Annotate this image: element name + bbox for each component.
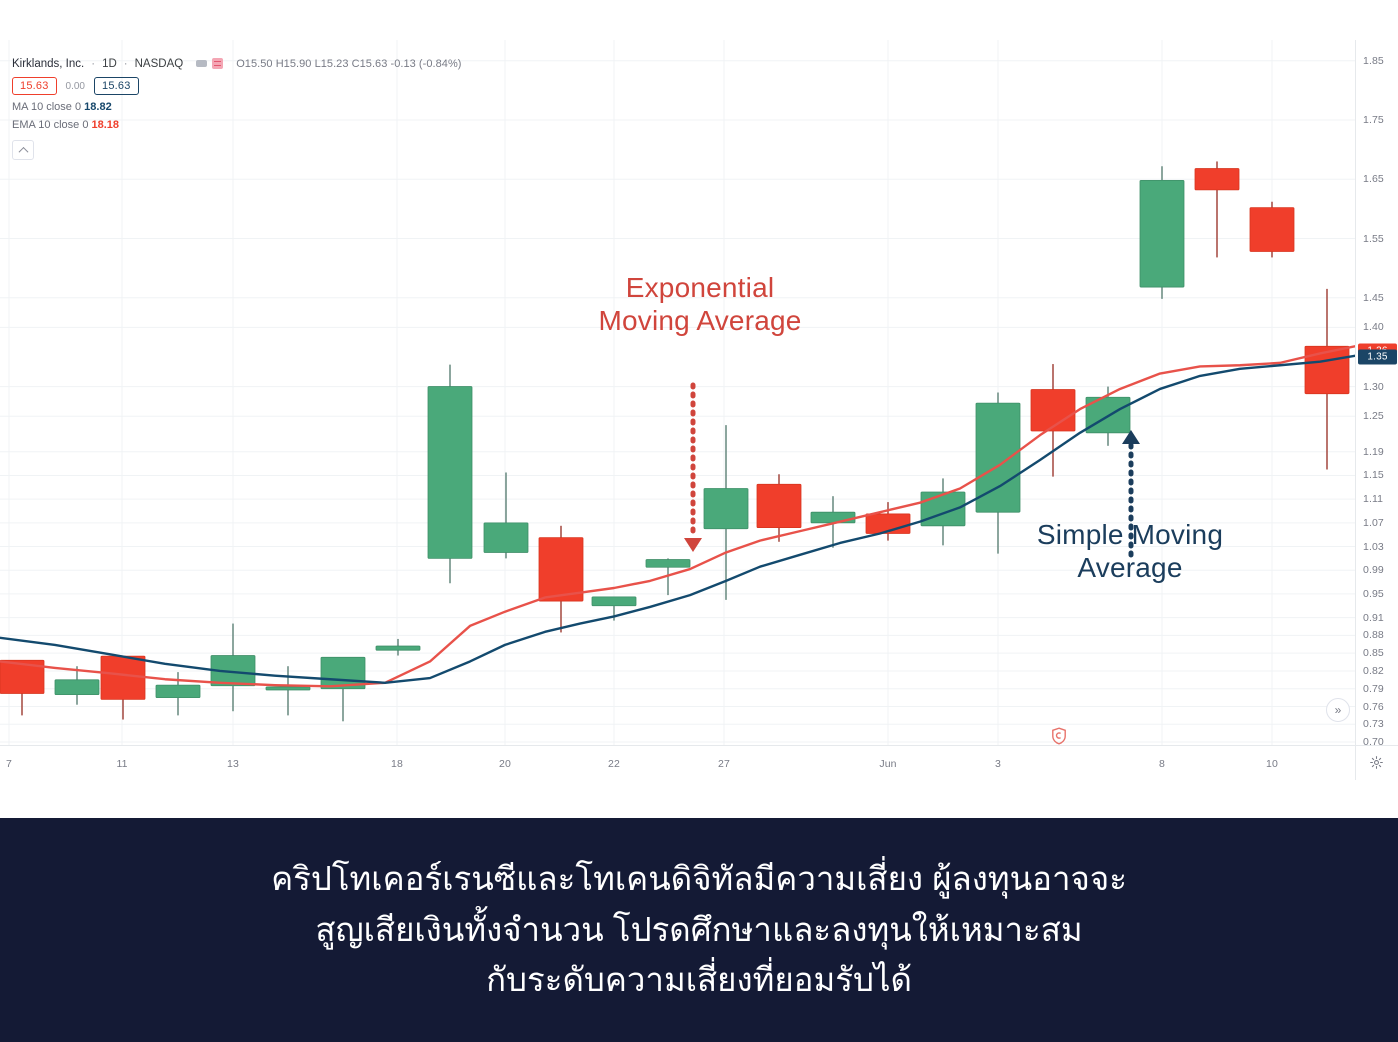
separator-1: ·	[91, 58, 95, 70]
ma-legend-row[interactable]: MA 10 close 0 18.82	[12, 101, 462, 113]
price-chip-low[interactable]: 15.63	[12, 77, 57, 95]
price-tick-label: 0.79	[1363, 683, 1384, 695]
candle-body[interactable]	[484, 523, 528, 553]
price-axis[interactable]: 1.851.751.651.551.451.401.301.251.191.15…	[1355, 40, 1398, 745]
price-tick-label: 0.95	[1363, 588, 1384, 600]
price-chip-last[interactable]: 15.63	[94, 77, 139, 95]
header-icon-group	[196, 58, 223, 69]
candle-body[interactable]	[156, 685, 200, 697]
price-tick-label: 0.91	[1363, 612, 1384, 624]
price-tick-label: 1.75	[1363, 114, 1384, 126]
chart-legend: Kirklands, Inc. · 1D · NASDAQ O15.50 H15…	[12, 58, 462, 131]
time-tick-label: 13	[227, 758, 239, 770]
price-tick-label: 0.76	[1363, 701, 1384, 713]
shield-marker-icon[interactable]	[1051, 727, 1067, 745]
lines-icon[interactable]	[212, 58, 223, 69]
price-tick-label: 1.15	[1363, 469, 1384, 481]
screenshot-root: 1.851.751.651.551.451.401.301.251.191.15…	[0, 0, 1398, 1042]
gear-icon	[1370, 756, 1383, 769]
time-tick-label: 18	[391, 758, 403, 770]
price-tick-label: 0.88	[1363, 629, 1384, 641]
time-tick-label: 27	[718, 758, 730, 770]
candle-body[interactable]	[266, 687, 310, 690]
candle-body[interactable]	[376, 646, 420, 650]
price-tick-label: 1.85	[1363, 55, 1384, 67]
separator-2: ·	[124, 58, 128, 70]
chart-interval[interactable]: 1D	[102, 58, 117, 70]
time-tick-label: 10	[1266, 758, 1278, 770]
price-chip-row: 15.63 0.00 15.63	[12, 77, 462, 95]
collapse-legend-button[interactable]	[12, 140, 34, 160]
price-tick-label: 1.30	[1363, 381, 1384, 393]
candle-body[interactable]	[1305, 346, 1349, 393]
candle-body[interactable]	[1250, 208, 1294, 252]
price-tick-label: 1.55	[1363, 233, 1384, 245]
candle-body[interactable]	[101, 656, 145, 699]
price-tick-label: 0.85	[1363, 647, 1384, 659]
chevron-up-icon	[18, 146, 28, 156]
candle-body[interactable]	[539, 538, 583, 601]
candle-body[interactable]	[646, 560, 690, 568]
candle-body[interactable]	[811, 512, 855, 523]
ema-annotation: Exponential Moving Average	[545, 271, 855, 337]
price-chip-change: 0.00	[66, 81, 85, 92]
ema-legend-value: 18.18	[92, 119, 120, 131]
chevron-double-right-icon: »	[1335, 703, 1342, 717]
price-tick-label: 1.25	[1363, 410, 1384, 422]
time-tick-label: 22	[608, 758, 620, 770]
time-tick-label: 3	[995, 758, 1001, 770]
dash-icon[interactable]	[196, 60, 207, 67]
ema-annotation-line2: Moving Average	[545, 304, 855, 337]
sma-annotation-line1: Simple Moving	[995, 518, 1265, 551]
time-tick-label: 20	[499, 758, 511, 770]
ema-arrow-head	[684, 538, 702, 552]
caption-line-2: สูญเสียเงินทั้งจำนวน โปรดศึกษาและลงทุนให…	[315, 907, 1082, 954]
sma-annotation: Simple Moving Average	[995, 518, 1265, 584]
symbol-name[interactable]: Kirklands, Inc.	[12, 58, 84, 70]
time-tick-label: 11	[116, 758, 127, 770]
candle-body[interactable]	[1195, 169, 1239, 190]
candle-body[interactable]	[592, 597, 636, 606]
price-tick-label: 1.40	[1363, 321, 1384, 333]
price-tick-label: 1.19	[1363, 446, 1384, 458]
chart-settings-button[interactable]	[1366, 752, 1386, 772]
time-axis[interactable]: 7111318202227Jun3810	[0, 745, 1355, 780]
price-tick-label: 0.82	[1363, 665, 1384, 677]
ema-legend-row[interactable]: EMA 10 close 0 18.18	[12, 119, 462, 131]
candle-body[interactable]	[757, 484, 801, 527]
caption-line-1: คริปโทเคอร์เรนซีและโทเคนดิจิทัลมีความเสี…	[271, 856, 1127, 903]
candle-body[interactable]	[428, 387, 472, 559]
time-tick-label: 7	[6, 758, 12, 770]
price-tick-label: 1.65	[1363, 173, 1384, 185]
candlestick-plot[interactable]	[0, 40, 1355, 745]
candle-body[interactable]	[1140, 180, 1184, 287]
exchange-name: NASDAQ	[135, 58, 184, 70]
price-tick-label: 1.11	[1363, 493, 1383, 505]
time-tick-label: Jun	[879, 758, 896, 770]
disclaimer-caption: คริปโทเคอร์เรนซีและโทเคนดิจิทัลมีความเสี…	[0, 818, 1398, 1042]
candle-body[interactable]	[55, 680, 99, 695]
candle-body[interactable]	[1031, 390, 1075, 431]
price-tick-label: 1.03	[1363, 541, 1384, 553]
trading-chart-app: 1.851.751.651.551.451.401.301.251.191.15…	[0, 0, 1398, 818]
caption-line-3: กับระดับความเสี่ยงที่ยอมรับได้	[486, 957, 912, 1004]
ohlc-values: O15.50 H15.90 L15.23 C15.63 -0.13 (-0.84…	[236, 58, 461, 70]
time-tick-label: 8	[1159, 758, 1165, 770]
symbol-header-row: Kirklands, Inc. · 1D · NASDAQ O15.50 H15…	[12, 58, 462, 70]
price-tick-label: 0.99	[1363, 564, 1384, 576]
ma-legend-value: 18.82	[84, 101, 112, 113]
ema-legend-label: EMA 10 close 0	[12, 119, 88, 131]
sma-annotation-line2: Average	[995, 551, 1265, 584]
expand-chart-button[interactable]: »	[1326, 698, 1350, 722]
chart-plot-area[interactable]	[0, 40, 1355, 745]
candle-body[interactable]	[704, 488, 748, 528]
ema-annotation-line1: Exponential	[545, 271, 855, 304]
price-tick-label: 1.45	[1363, 292, 1384, 304]
ma-legend-label: MA 10 close 0	[12, 101, 81, 113]
price-badge-ma[interactable]: 1.35	[1358, 350, 1397, 365]
price-tick-label: 1.07	[1363, 517, 1384, 529]
price-tick-label: 0.73	[1363, 718, 1384, 730]
